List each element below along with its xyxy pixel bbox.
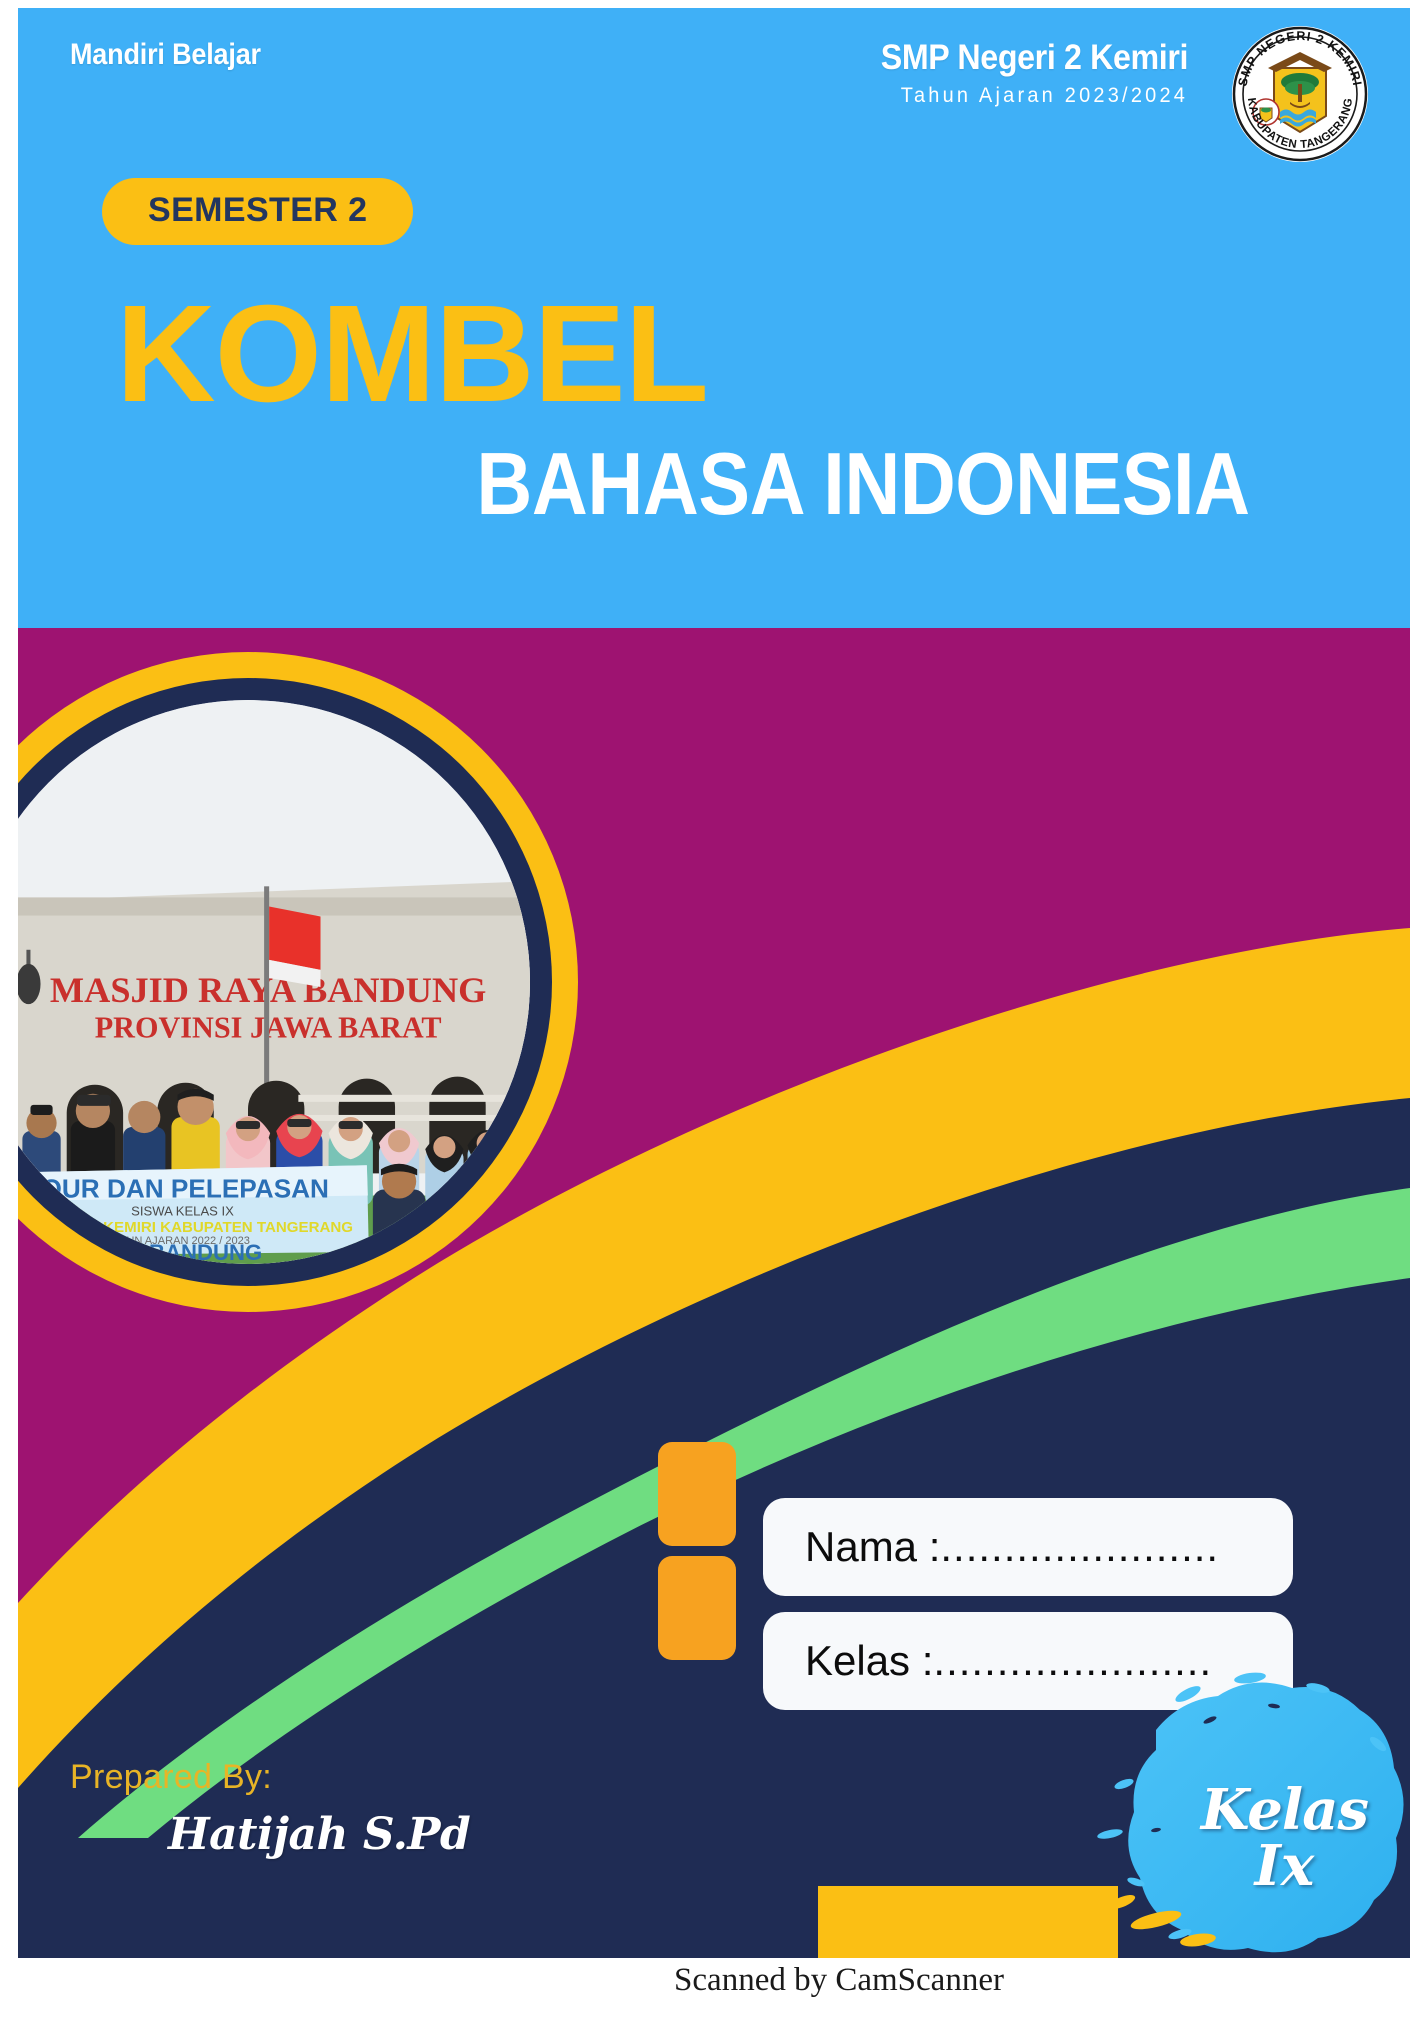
camscanner-watermark-text: Scanned by CamScanner [424, 1962, 1004, 1998]
kelas-badge-line1: Kelas [1201, 1782, 1368, 1838]
school-year: Tahun Ajaran 2023/2024 [871, 84, 1188, 108]
school-name: SMP Negeri 2 Kemiri [881, 38, 1188, 78]
photo-banner-line1: TOUR DAN PELEPASAN [26, 1174, 329, 1204]
scanned-sheet: Mandiri Belajar SMP Negeri 2 Kemiri Tahu… [18, 8, 1410, 1958]
kelas-badge-text: Kelas Ix [1201, 1782, 1368, 1894]
photo-banner-line3: SMP NEGERI 2 KEMIRI KABUPATEN TANGERANG [18, 1219, 353, 1236]
page-canvas: Mandiri Belajar SMP Negeri 2 Kemiri Tahu… [0, 0, 1428, 2028]
semester-badge: SEMESTER 2 [102, 178, 413, 245]
camscanner-watermark: Scanned by CamScanner [0, 1962, 1428, 1999]
prepared-by-block: Prepared By: Hatijah S.Pd [70, 1758, 470, 1860]
page-subtitle: BAHASA INDONESIA [477, 440, 1250, 528]
nama-value: ...................... [940, 1523, 1219, 1571]
photo-banner-line2: SISWA KELAS IX [131, 1204, 234, 1219]
kelas-badge-splash: Kelas Ix [1060, 1634, 1410, 1958]
school-identity: SMP Negeri 2 Kemiri Tahun Ajaran 2023/20… [854, 38, 1188, 108]
accent-square-bottom [658, 1556, 736, 1660]
prepared-by-name: Hatijah S.Pd [168, 1809, 470, 1860]
tagline: Mandiri Belajar [70, 38, 261, 72]
nama-label: Nama : [805, 1523, 940, 1571]
photo-frame-outer-ring: MASJID RAYA BANDUNG PROVINSI JAWA BARAT [18, 652, 578, 1312]
photo-frame-inner-ring: MASJID RAYA BANDUNG PROVINSI JAWA BARAT [18, 678, 552, 1286]
kelas-label: Kelas : [805, 1637, 933, 1685]
kelas-badge-line2: Ix [1201, 1838, 1368, 1894]
cover-photograph: MASJID RAYA BANDUNG PROVINSI JAWA BARAT [18, 700, 530, 1264]
photo-banner-line5: GOES TO BANDUNG [42, 1240, 262, 1264]
nama-field[interactable]: Nama : ...................... [763, 1498, 1293, 1596]
page-title: KOMBEL [116, 285, 708, 423]
school-seal-logo: SMP NEGERI 2 KEMIRI KABUPATEN TANGERANG [1230, 24, 1370, 164]
prepared-by-label: Prepared By: [70, 1758, 470, 1797]
accent-square-top [658, 1442, 736, 1546]
